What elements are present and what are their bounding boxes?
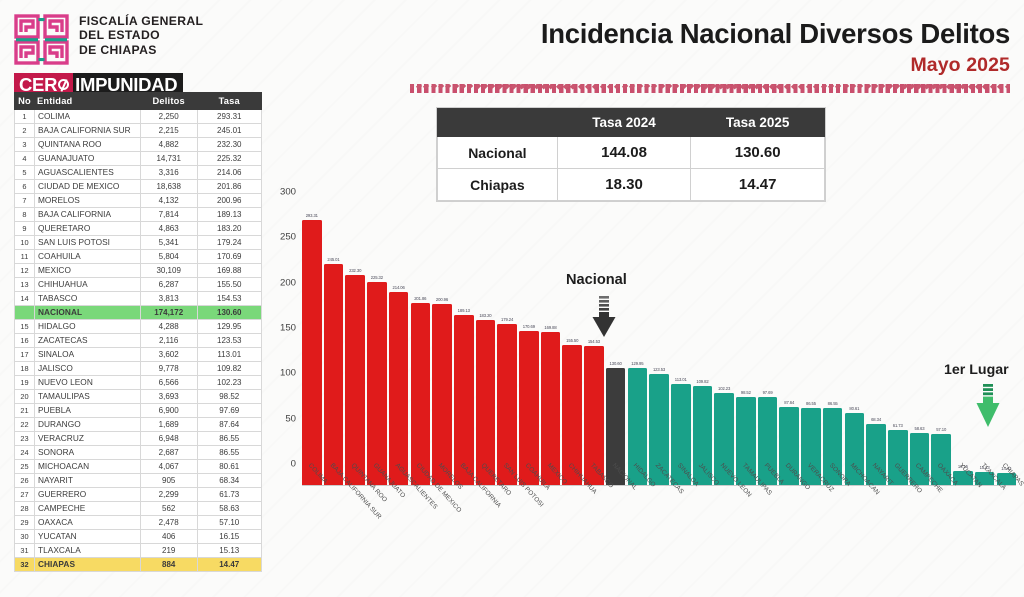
diamond-dot-icon bbox=[997, 83, 1004, 90]
bar-value-label: 293.31 bbox=[306, 213, 318, 218]
diamond-dot-icon bbox=[784, 83, 791, 90]
diamond-dot-icon bbox=[570, 83, 577, 90]
diamond-dot-icon bbox=[460, 83, 467, 90]
cell-entidad: BAJA CALIFORNIA SUR bbox=[34, 124, 140, 138]
diamond-dot-icon bbox=[592, 83, 599, 90]
cell-tasa: 232.30 bbox=[197, 138, 261, 152]
diamond-dot-icon bbox=[416, 83, 423, 90]
cell-delitos: 6,900 bbox=[140, 404, 197, 418]
cell-delitos: 14,731 bbox=[140, 152, 197, 166]
bar-column: 129.95 bbox=[628, 192, 648, 486]
x-axis-label-slot: COAHUILA bbox=[519, 460, 539, 550]
bar-column: 189.13 bbox=[454, 192, 474, 486]
diamond-dot-icon bbox=[659, 83, 666, 90]
y-axis-tick-label: 200 bbox=[266, 277, 296, 288]
bar-column: 232.30 bbox=[345, 192, 365, 486]
diamond-dot-icon bbox=[960, 83, 967, 90]
table-row: 12MEXICO30,109169.88 bbox=[15, 264, 262, 278]
cell-tasa: 293.31 bbox=[197, 110, 261, 124]
x-axis-label-slot: DURANGO bbox=[779, 460, 799, 550]
table-row: 13CHIHUAHUA6,287155.50 bbox=[15, 278, 262, 292]
y-axis-tick-label: 300 bbox=[266, 187, 296, 198]
diamond-dot-icon bbox=[857, 83, 864, 90]
cell-no: 17 bbox=[15, 348, 35, 362]
cell-delitos: 5,341 bbox=[140, 236, 197, 250]
x-axis-label-slot: CAMPECHE bbox=[910, 460, 930, 550]
bar bbox=[432, 304, 452, 486]
cell-delitos: 2,116 bbox=[140, 334, 197, 348]
diamond-dot-icon bbox=[754, 83, 761, 90]
cell-entidad: OAXACA bbox=[34, 516, 140, 530]
cell-no: 29 bbox=[15, 516, 35, 530]
cell-no: 13 bbox=[15, 278, 35, 292]
bar-column: 155.50 bbox=[562, 192, 582, 486]
diamond-dot-icon bbox=[710, 83, 717, 90]
cell-no bbox=[15, 306, 35, 320]
cell-entidad: SONORA bbox=[34, 446, 140, 460]
compare-col-header-tasa-2025: Tasa 2025 bbox=[691, 109, 825, 137]
cell-tasa: 80.61 bbox=[197, 460, 261, 474]
cell-tasa: 123.53 bbox=[197, 334, 261, 348]
cell-tasa: 97.69 bbox=[197, 404, 261, 418]
x-axis-label-slot: NAYARIT bbox=[866, 460, 886, 550]
bar-value-label: 225.32 bbox=[371, 275, 383, 280]
cell-no: 14 bbox=[15, 292, 35, 306]
table-row: 31TLAXCALA21915.13 bbox=[15, 544, 262, 558]
x-axis-label-slot: HIDALGO bbox=[628, 460, 648, 550]
bar-column: 57.10 bbox=[931, 192, 951, 486]
table-row: 27GUERRERO2,29961.73 bbox=[15, 488, 262, 502]
x-axis-label-slot: VERACRUZ bbox=[801, 460, 821, 550]
bar-value-label: 129.95 bbox=[631, 361, 643, 366]
bar-value-label: 98.52 bbox=[741, 390, 751, 395]
cell-delitos: 18,638 bbox=[140, 180, 197, 194]
diamond-dot-icon bbox=[843, 83, 850, 90]
cell-tasa: 58.63 bbox=[197, 502, 261, 516]
table-row: 9QUERETARO4,863183.20 bbox=[15, 222, 262, 236]
diamond-dot-icon bbox=[982, 83, 989, 90]
table-row: 26NAYARIT90568.34 bbox=[15, 474, 262, 488]
cell-tasa: 179.24 bbox=[197, 236, 261, 250]
diamond-dot-icon bbox=[923, 83, 930, 90]
cell-no: 8 bbox=[15, 208, 35, 222]
cell-delitos: 3,316 bbox=[140, 166, 197, 180]
bar-column: 86.55 bbox=[823, 192, 843, 486]
table-row: 4GUANAJUATO14,731225.32 bbox=[15, 152, 262, 166]
cell-tasa: 200.96 bbox=[197, 194, 261, 208]
cell-no: 20 bbox=[15, 390, 35, 404]
y-axis-tick-label: 100 bbox=[266, 368, 296, 379]
diamond-dot-icon bbox=[533, 83, 540, 90]
table-row: 10SAN LUIS POTOSI5,341179.24 bbox=[15, 236, 262, 250]
table-row: 29OAXACA2,47857.10 bbox=[15, 516, 262, 530]
diamond-dot-icon bbox=[879, 83, 886, 90]
cell-entidad: MICHOACAN bbox=[34, 460, 140, 474]
cell-entidad: ZACATECAS bbox=[34, 334, 140, 348]
bar-value-label: 123.53 bbox=[653, 367, 665, 372]
diamond-dot-icon bbox=[909, 83, 916, 90]
bar-column: 170.69 bbox=[519, 192, 539, 486]
cell-tasa: 16.15 bbox=[197, 530, 261, 544]
cell-no: 28 bbox=[15, 502, 35, 516]
cell-tasa: 86.55 bbox=[197, 432, 261, 446]
cell-delitos: 6,287 bbox=[140, 278, 197, 292]
table-row: 2BAJA CALIFORNIA SUR2,215245.01 bbox=[15, 124, 262, 138]
cell-no: 19 bbox=[15, 376, 35, 390]
diamond-dot-icon bbox=[548, 83, 555, 90]
cell-entidad: SAN LUIS POTOSI bbox=[34, 236, 140, 250]
diamond-dot-icon bbox=[497, 83, 504, 90]
table-row: 32CHIAPAS88414.47 bbox=[15, 558, 262, 572]
cell-entidad: AGUASCALIENTES bbox=[34, 166, 140, 180]
diamond-dot-icon bbox=[946, 83, 953, 90]
diamond-dot-icon bbox=[762, 83, 769, 90]
cell-tasa: 109.82 bbox=[197, 362, 261, 376]
cell-delitos: 7,814 bbox=[140, 208, 197, 222]
bar-column: 179.24 bbox=[497, 192, 517, 486]
cell-no: 23 bbox=[15, 432, 35, 446]
cell-delitos: 9,778 bbox=[140, 362, 197, 376]
diamond-dot-icon bbox=[695, 83, 702, 90]
x-axis-label-slot: MICHOACAN bbox=[845, 460, 865, 550]
diamond-dot-icon bbox=[1004, 83, 1011, 90]
compare-header-row: Tasa 2024 Tasa 2025 bbox=[438, 109, 825, 137]
bar bbox=[345, 275, 365, 486]
bar-value-label: 61.73 bbox=[893, 423, 903, 428]
cell-delitos: 2,687 bbox=[140, 446, 197, 460]
cell-tasa: 98.52 bbox=[197, 390, 261, 404]
y-axis-tick-label: 150 bbox=[266, 323, 296, 334]
org-name-line1: FISCALÍA GENERAL bbox=[79, 14, 203, 28]
cell-entidad: TABASCO bbox=[34, 292, 140, 306]
x-axis-label-slot: PUEBLA bbox=[758, 460, 778, 550]
table-row: 5AGUASCALIENTES3,316214.06 bbox=[15, 166, 262, 180]
cell-delitos: 4,288 bbox=[140, 320, 197, 334]
x-axis-label-slot: TABASCO bbox=[584, 460, 604, 550]
diamond-dot-icon bbox=[526, 83, 533, 90]
bar-value-label: 58.63 bbox=[914, 426, 924, 431]
bar-value-label: 109.82 bbox=[696, 379, 708, 384]
cell-entidad: CAMPECHE bbox=[34, 502, 140, 516]
bar-value-label: 87.64 bbox=[784, 400, 794, 405]
diamond-dot-icon bbox=[931, 83, 938, 90]
diamond-dot-icon bbox=[717, 83, 724, 90]
bar-value-label: 155.50 bbox=[566, 338, 578, 343]
cell-tasa: 61.73 bbox=[197, 488, 261, 502]
cell-delitos: 884 bbox=[140, 558, 197, 572]
brand-logo-block: FISCALÍA GENERAL DEL ESTADO DE CHIAPAS C… bbox=[14, 14, 262, 96]
cell-no: 2 bbox=[15, 124, 35, 138]
cell-entidad: MORELOS bbox=[34, 194, 140, 208]
x-axis-tick-label: CHIAPAS bbox=[1001, 462, 1024, 488]
table-row: 14TABASCO3,813154.53 bbox=[15, 292, 262, 306]
x-axis-label-slot: SAN LUIS POTOSI bbox=[497, 460, 517, 550]
table-row: 3QUINTANA ROO4,882232.30 bbox=[15, 138, 262, 152]
x-axis-label-slot: BAJA CALIFORNIA SUR bbox=[324, 460, 344, 550]
col-header-no: No bbox=[15, 93, 35, 110]
table-row: 21PUEBLA6,90097.69 bbox=[15, 404, 262, 418]
diamond-dot-icon bbox=[739, 83, 746, 90]
bar-value-label: 68.34 bbox=[871, 417, 881, 422]
diamond-dot-icon bbox=[511, 83, 518, 90]
infographic-page: FISCALÍA GENERAL DEL ESTADO DE CHIAPAS C… bbox=[0, 0, 1024, 597]
table-row: 30YUCATAN40616.15 bbox=[15, 530, 262, 544]
cell-entidad: COLIMA bbox=[34, 110, 140, 124]
cell-delitos: 6,566 bbox=[140, 376, 197, 390]
diamond-dot-icon bbox=[901, 83, 908, 90]
cell-tasa: 68.34 bbox=[197, 474, 261, 488]
bar-value-label: 232.30 bbox=[349, 268, 361, 273]
table-row: 16ZACATECAS2,116123.53 bbox=[15, 334, 262, 348]
bar-column: 14.47 bbox=[997, 192, 1017, 486]
cell-tasa: 130.60 bbox=[197, 306, 261, 320]
cell-tasa: 113.01 bbox=[197, 348, 261, 362]
cell-entidad: NACIONAL bbox=[34, 306, 140, 320]
bar-value-label: 183.20 bbox=[479, 313, 491, 318]
cell-delitos: 4,067 bbox=[140, 460, 197, 474]
diamond-dot-icon bbox=[600, 83, 607, 90]
bar-column: 109.82 bbox=[693, 192, 713, 486]
diamond-dot-icon bbox=[636, 83, 643, 90]
cell-delitos: 3,602 bbox=[140, 348, 197, 362]
table-row: 25MICHOACAN4,06780.61 bbox=[15, 460, 262, 474]
x-axis-label-slot: GUANAJUATO bbox=[367, 460, 387, 550]
bar-series: 293.31245.01232.30225.32214.06201.86200.… bbox=[302, 192, 1016, 486]
diamond-dot-icon bbox=[644, 83, 651, 90]
table-row: 23VERACRUZ6,94886.55 bbox=[15, 432, 262, 446]
diamond-dot-icon bbox=[651, 83, 658, 90]
bar-value-label: 80.61 bbox=[849, 406, 859, 411]
diamond-dot-icon bbox=[703, 83, 710, 90]
cell-delitos: 5,804 bbox=[140, 250, 197, 264]
diamond-dot-icon bbox=[828, 83, 835, 90]
bar-column: 80.61 bbox=[845, 192, 865, 486]
diamond-dot-icon bbox=[820, 83, 827, 90]
cell-no: 9 bbox=[15, 222, 35, 236]
cell-entidad: NUEVO LEON bbox=[34, 376, 140, 390]
bar-column: 97.69 bbox=[758, 192, 778, 486]
cell-tasa: 15.13 bbox=[197, 544, 261, 558]
diamond-dot-icon bbox=[850, 83, 857, 90]
diamond-dot-icon bbox=[835, 83, 842, 90]
cell-tasa: 155.50 bbox=[197, 278, 261, 292]
cell-no: 15 bbox=[15, 320, 35, 334]
diamond-dot-icon bbox=[666, 83, 673, 90]
bar-column: 102.23 bbox=[714, 192, 734, 486]
diamond-dot-icon bbox=[806, 83, 813, 90]
cell-no: 32 bbox=[15, 558, 35, 572]
cell-tasa: 225.32 bbox=[197, 152, 261, 166]
cell-entidad: CHIAPAS bbox=[34, 558, 140, 572]
bar-column: 130.60 bbox=[606, 192, 626, 486]
bar-value-label: 170.69 bbox=[523, 324, 535, 329]
cell-delitos: 2,299 bbox=[140, 488, 197, 502]
table-row: 11COAHUILA5,804170.69 bbox=[15, 250, 262, 264]
diamond-dot-icon bbox=[776, 83, 783, 90]
cell-delitos: 562 bbox=[140, 502, 197, 516]
cell-tasa: 214.06 bbox=[197, 166, 261, 180]
diamond-dot-icon bbox=[555, 83, 562, 90]
diamond-dot-icon bbox=[798, 83, 805, 90]
table-row: 24SONORA2,68786.55 bbox=[15, 446, 262, 460]
x-axis-label-slot: CIUDAD DE MEXICO bbox=[411, 460, 431, 550]
table-row: 19NUEVO LEON6,566102.23 bbox=[15, 376, 262, 390]
cell-entidad: TLAXCALA bbox=[34, 544, 140, 558]
cell-entidad: SINALOA bbox=[34, 348, 140, 362]
cell-tasa: 14.47 bbox=[197, 558, 261, 572]
cell-no: 31 bbox=[15, 544, 35, 558]
bar bbox=[389, 292, 409, 486]
compare-row-nacional: Nacional 144.08 130.60 bbox=[438, 137, 825, 169]
bar-value-label: 57.10 bbox=[936, 427, 946, 432]
diamond-dot-icon bbox=[673, 83, 680, 90]
x-axis-label-slot: MEXICO bbox=[541, 460, 561, 550]
cell-entidad: QUINTANA ROO bbox=[34, 138, 140, 152]
cell-no: 5 bbox=[15, 166, 35, 180]
org-name-line2: DEL ESTADO bbox=[79, 28, 203, 42]
bar-column: 214.06 bbox=[389, 192, 409, 486]
bar-value-label: 130.60 bbox=[610, 361, 622, 366]
x-axis-label-slot: JALISCO bbox=[693, 460, 713, 550]
cell-entidad: CIUDAD DE MEXICO bbox=[34, 180, 140, 194]
cell-entidad: HIDALGO bbox=[34, 320, 140, 334]
cell-no: 21 bbox=[15, 404, 35, 418]
bar-value-label: 113.01 bbox=[675, 377, 687, 382]
bar bbox=[411, 303, 431, 486]
table-row: 20TAMAULIPAS3,69398.52 bbox=[15, 390, 262, 404]
x-axis-label-slot: AGUASCALIENTES bbox=[389, 460, 409, 550]
table-row: 8BAJA CALIFORNIA7,814189.13 bbox=[15, 208, 262, 222]
chiapas-greca-logo-icon bbox=[14, 14, 70, 66]
diamond-dot-icon bbox=[563, 83, 570, 90]
bar-column: 98.52 bbox=[736, 192, 756, 486]
cell-entidad: QUERETARO bbox=[34, 222, 140, 236]
bar-column: 200.96 bbox=[432, 192, 452, 486]
compare-value-2025: 130.60 bbox=[691, 137, 825, 169]
cell-no: 7 bbox=[15, 194, 35, 208]
x-axis-label-slot: YUCATAN bbox=[953, 460, 973, 550]
bar-column: 123.53 bbox=[649, 192, 669, 486]
diamond-dot-icon bbox=[445, 83, 452, 90]
bar-column: 225.32 bbox=[367, 192, 387, 486]
table-row: 6CIUDAD DE MEXICO18,638201.86 bbox=[15, 180, 262, 194]
bar-value-label: 86.55 bbox=[828, 401, 838, 406]
bar-column: 16.15 bbox=[953, 192, 973, 486]
cell-tasa: 87.64 bbox=[197, 418, 261, 432]
cell-no: 30 bbox=[15, 530, 35, 544]
diamond-dot-icon bbox=[747, 83, 754, 90]
bar-value-label: 102.23 bbox=[718, 386, 730, 391]
cell-no: 22 bbox=[15, 418, 35, 432]
compare-row-label: Nacional bbox=[438, 137, 558, 169]
table-row: 22DURANGO1,68987.64 bbox=[15, 418, 262, 432]
x-axis-label-slot: SONORA bbox=[823, 460, 843, 550]
cell-delitos: 4,882 bbox=[140, 138, 197, 152]
x-axis-label-slot: TAMAULIPAS bbox=[736, 460, 756, 550]
table-row: NACIONAL174,172130.60 bbox=[15, 306, 262, 320]
diamond-dot-icon bbox=[541, 83, 548, 90]
bar-value-label: 97.69 bbox=[763, 390, 773, 395]
incidence-bar-chart: 050100150200250300 293.31245.01232.30225… bbox=[266, 186, 1018, 486]
diamond-dot-icon bbox=[990, 83, 997, 90]
diamond-dot-icon bbox=[622, 83, 629, 90]
bar-column: 201.86 bbox=[411, 192, 431, 486]
diamond-dot-icon bbox=[430, 83, 437, 90]
bar-value-label: 214.06 bbox=[393, 285, 405, 290]
cell-no: 1 bbox=[15, 110, 35, 124]
col-header-delitos: Delitos bbox=[140, 93, 197, 110]
diamond-dot-icon bbox=[968, 83, 975, 90]
diamond-dot-icon bbox=[725, 83, 732, 90]
diamond-dot-icon bbox=[629, 83, 636, 90]
cell-delitos: 4,132 bbox=[140, 194, 197, 208]
cell-tasa: 129.95 bbox=[197, 320, 261, 334]
table-header-row: No Entidad Delitos Tasa bbox=[15, 93, 262, 110]
cell-tasa: 189.13 bbox=[197, 208, 261, 222]
cell-no: 24 bbox=[15, 446, 35, 460]
diamond-dot-icon bbox=[813, 83, 820, 90]
cell-delitos: 3,813 bbox=[140, 292, 197, 306]
x-axis-label-slot: TLAXCALA bbox=[975, 460, 995, 550]
cell-entidad: COAHUILA bbox=[34, 250, 140, 264]
cell-entidad: GUERRERO bbox=[34, 488, 140, 502]
annotation-primer-lugar-label: 1er Lugar bbox=[944, 362, 1009, 378]
x-axis-label-slot: CHIAPAS bbox=[997, 460, 1017, 550]
cell-no: 16 bbox=[15, 334, 35, 348]
diamond-dot-icon bbox=[732, 83, 739, 90]
table-row: 1COLIMA2,250293.31 bbox=[15, 110, 262, 124]
diamond-dot-icon bbox=[489, 83, 496, 90]
bar-column: 113.01 bbox=[671, 192, 691, 486]
zero-slash-icon bbox=[58, 79, 69, 90]
cell-no: 6 bbox=[15, 180, 35, 194]
cell-delitos: 2,478 bbox=[140, 516, 197, 530]
bar bbox=[302, 220, 322, 486]
x-axis-label-slot: NACIONAL bbox=[606, 460, 626, 550]
bar-column: 293.31 bbox=[302, 192, 322, 486]
x-axis-label-slot: QUERETARO bbox=[476, 460, 496, 550]
cell-delitos: 905 bbox=[140, 474, 197, 488]
x-axis-label-slot: BAJA CALIFORNIA bbox=[454, 460, 474, 550]
cell-no: 12 bbox=[15, 264, 35, 278]
diamond-dot-icon bbox=[578, 83, 585, 90]
cell-entidad: TAMAULIPAS bbox=[34, 390, 140, 404]
cell-delitos: 1,689 bbox=[140, 418, 197, 432]
table-row: 15HIDALGO4,288129.95 bbox=[15, 320, 262, 334]
cell-no: 3 bbox=[15, 138, 35, 152]
cell-delitos: 3,693 bbox=[140, 390, 197, 404]
green-down-arrow-icon bbox=[976, 384, 1000, 428]
cell-delitos: 219 bbox=[140, 544, 197, 558]
bar-column: 183.20 bbox=[476, 192, 496, 486]
diamond-dot-icon bbox=[865, 83, 872, 90]
cell-entidad: VERACRUZ bbox=[34, 432, 140, 446]
cell-no: 4 bbox=[15, 152, 35, 166]
bar-value-label: 86.55 bbox=[806, 401, 816, 406]
bar-value-label: 245.01 bbox=[327, 257, 339, 262]
bar-value-label: 169.88 bbox=[544, 325, 556, 330]
table-row: 7MORELOS4,132200.96 bbox=[15, 194, 262, 208]
y-axis-tick-label: 250 bbox=[266, 232, 296, 243]
bar-value-label: 154.53 bbox=[588, 339, 600, 344]
diamond-dot-icon bbox=[681, 83, 688, 90]
table-row: 17SINALOA3,602113.01 bbox=[15, 348, 262, 362]
diamond-dot-icon bbox=[894, 83, 901, 90]
diamond-dot-icon bbox=[467, 83, 474, 90]
cell-no: 18 bbox=[15, 362, 35, 376]
org-name: FISCALÍA GENERAL DEL ESTADO DE CHIAPAS bbox=[79, 14, 203, 57]
bar-column: 87.64 bbox=[779, 192, 799, 486]
